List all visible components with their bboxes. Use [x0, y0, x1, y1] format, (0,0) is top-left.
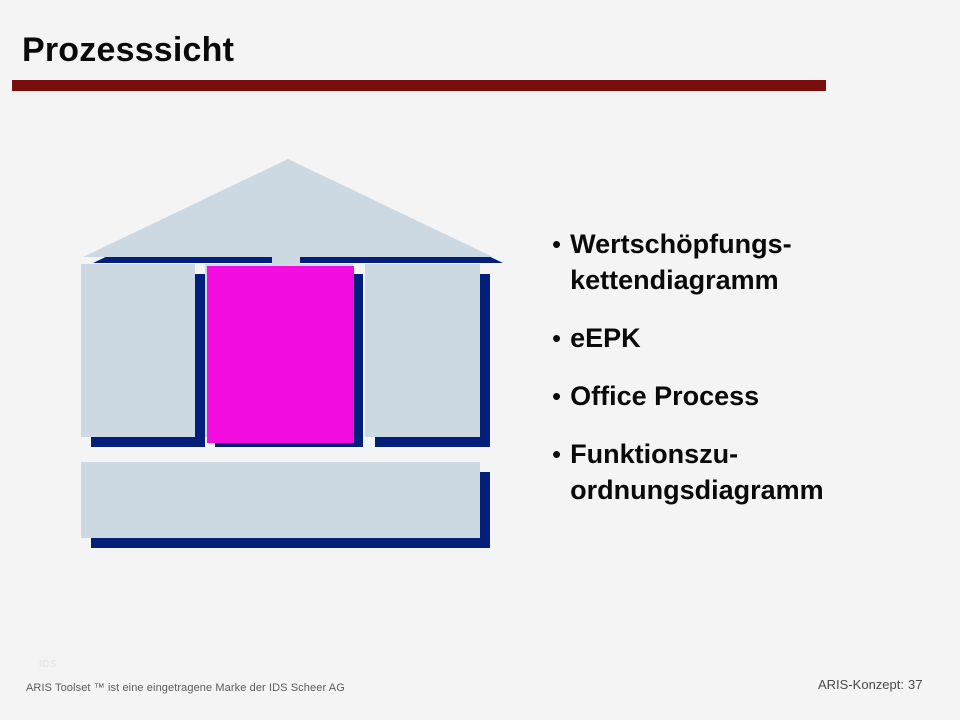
footer-trademark-note: ARIS Toolset ™ ist eine eingetragene Mar… [26, 682, 345, 694]
list-item-line: kettendiagramm [570, 265, 779, 295]
panel-face [365, 264, 480, 437]
list-item: • eEPK [552, 320, 948, 356]
bullet-marker-icon: • [552, 378, 561, 414]
page-title: Prozesssicht [22, 33, 234, 69]
list-item: • Wertschöpfungs- kettendiagramm [552, 226, 948, 298]
footer-page-number: 37 [908, 677, 922, 692]
list-item: • Funktionszu- ordnungsdiagramm [552, 436, 948, 508]
list-item-line: Funktionszu- [570, 439, 738, 469]
list-item-label: Wertschöpfungs- kettendiagramm [570, 226, 792, 298]
list-item: • Office Process [552, 378, 948, 414]
list-item-line: Wertschöpfungs- [570, 229, 792, 259]
panel-face [81, 264, 195, 437]
bullet-marker-icon: • [552, 436, 561, 472]
diagram-panel-left [81, 264, 195, 437]
footer-watermark: IDS [39, 659, 57, 670]
aris-house-diagram [0, 140, 540, 570]
bullet-marker-icon: • [552, 320, 561, 356]
list-item-label: Funktionszu- ordnungsdiagramm [570, 436, 824, 508]
highlight-process-view-box [207, 266, 354, 443]
bullet-marker-icon: • [552, 226, 561, 262]
title-underline-rule [12, 80, 826, 91]
diagram-panel-base [81, 462, 480, 538]
footer-deck-label: ARIS-Konzept: [818, 677, 904, 692]
list-item-label: eEPK [570, 320, 641, 356]
panel-face [81, 462, 480, 538]
list-item-line: Office Process [570, 381, 759, 411]
slide-canvas: Prozesssicht • Wertschöpfu [0, 0, 960, 720]
footer-page-indicator: ARIS-Konzept:37 [818, 677, 922, 692]
diagram-panel-right [365, 264, 480, 437]
bullet-list: • Wertschöpfungs- kettendiagramm • eEPK … [552, 226, 948, 508]
list-item-line: eEPK [570, 323, 641, 353]
list-item-label: Office Process [570, 378, 759, 414]
list-item-line: ordnungsdiagramm [570, 475, 824, 505]
